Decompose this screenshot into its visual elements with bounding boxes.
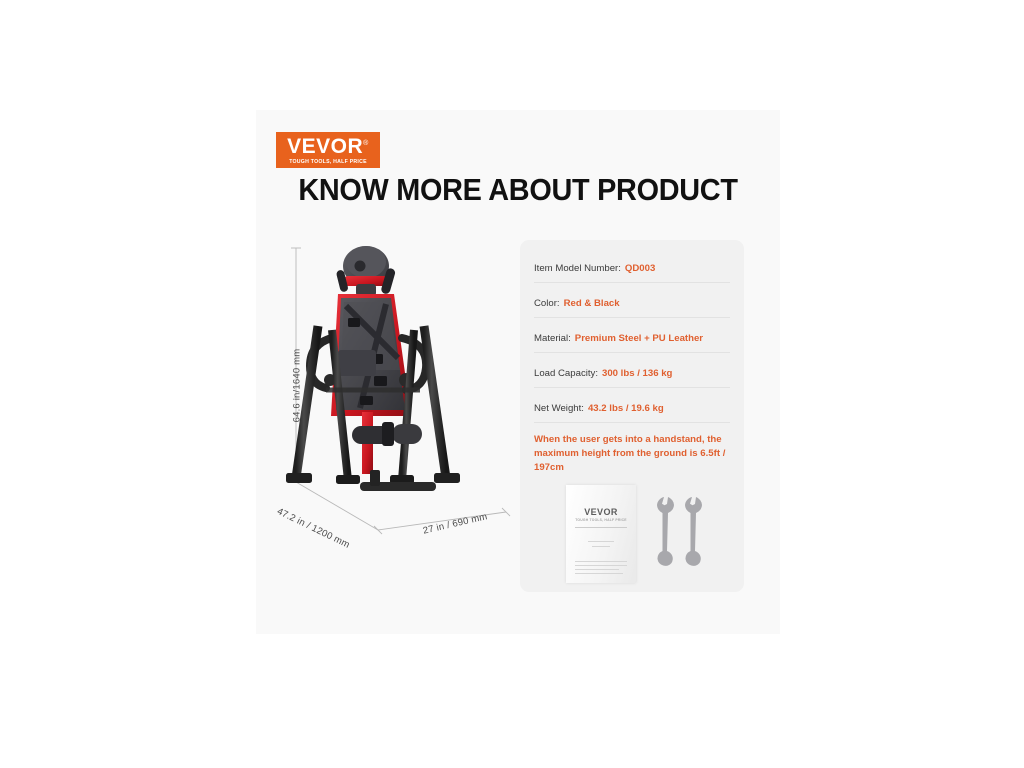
brand-wordmark: VEVOR® <box>287 136 369 157</box>
manual-text-line <box>575 569 619 571</box>
spec-row-color: Color:Red & Black <box>534 293 730 318</box>
spec-row-load-capacity: Load Capacity:300 lbs / 136 kg <box>534 363 730 388</box>
dimension-height-label: 64.6 in/1640 mm <box>291 349 302 423</box>
product-dimension-diagram: 64.6 in/1640 mm 47.2 in / 1200 mm 27 in … <box>274 230 524 610</box>
spec-row-material: Material:Premium Steel + PU Leather <box>534 328 730 353</box>
foot-left <box>286 473 312 483</box>
spec-label: Material: <box>534 333 571 344</box>
registered-trademark-icon: ® <box>363 140 369 147</box>
spec-label: Color: <box>534 298 560 309</box>
vevor-logo: VEVOR® TOUGH TOOLS, HALF PRICE <box>276 132 380 168</box>
foot-right <box>434 473 460 483</box>
manual-brand-tagline: TOUGH TOOLS, HALF PRICE <box>566 518 636 522</box>
spec-value: 43.2 lbs / 19.6 kg <box>588 403 664 414</box>
manual-text-line <box>575 573 623 575</box>
brand-wordmark-text: VEVOR <box>287 135 363 158</box>
brand-tagline: TOUGH TOOLS, HALF PRICE <box>289 160 367 165</box>
user-manual-booklet: VEVOR TOUGH TOOLS, HALF PRICE <box>566 485 636 583</box>
manual-text-line <box>592 546 610 548</box>
manual-text-line <box>575 565 627 567</box>
spec-label: Load Capacity: <box>534 368 598 379</box>
spec-label: Net Weight: <box>534 403 584 414</box>
spec-value: 300 lbs / 136 kg <box>602 368 672 379</box>
specifications-card: Item Model Number:QD003 Color:Red & Blac… <box>520 240 744 592</box>
spec-value: QD003 <box>625 263 655 274</box>
spec-row-model: Item Model Number:QD003 <box>534 258 730 283</box>
accessories-group: VEVOR TOUGH TOOLS, HALF PRICE <box>534 485 730 589</box>
manual-divider <box>575 527 627 528</box>
manual-text-line <box>575 561 627 563</box>
spec-value: Red & Black <box>564 298 620 309</box>
spec-row-net-weight: Net Weight:43.2 lbs / 19.6 kg <box>534 398 730 423</box>
handstand-height-note: When the user gets into a handstand, the… <box>534 433 730 475</box>
wrench-icon <box>685 497 702 566</box>
inversion-table-illustration <box>274 230 524 560</box>
content-panel: VEVOR® TOUGH TOOLS, HALF PRICE KNOW MORE… <box>256 110 780 634</box>
wrench-set-icon <box>654 493 718 579</box>
page-title: KNOW MORE ABOUT PRODUCT <box>274 172 761 208</box>
spec-value: Premium Steel + PU Leather <box>575 333 703 344</box>
manual-text-line <box>588 541 614 543</box>
spec-label: Item Model Number: <box>534 263 621 274</box>
wrench-icon <box>657 497 674 566</box>
manual-brand-wordmark: VEVOR <box>566 507 636 517</box>
infographic-canvas: VEVOR® TOUGH TOOLS, HALF PRICE KNOW MORE… <box>0 0 1024 768</box>
